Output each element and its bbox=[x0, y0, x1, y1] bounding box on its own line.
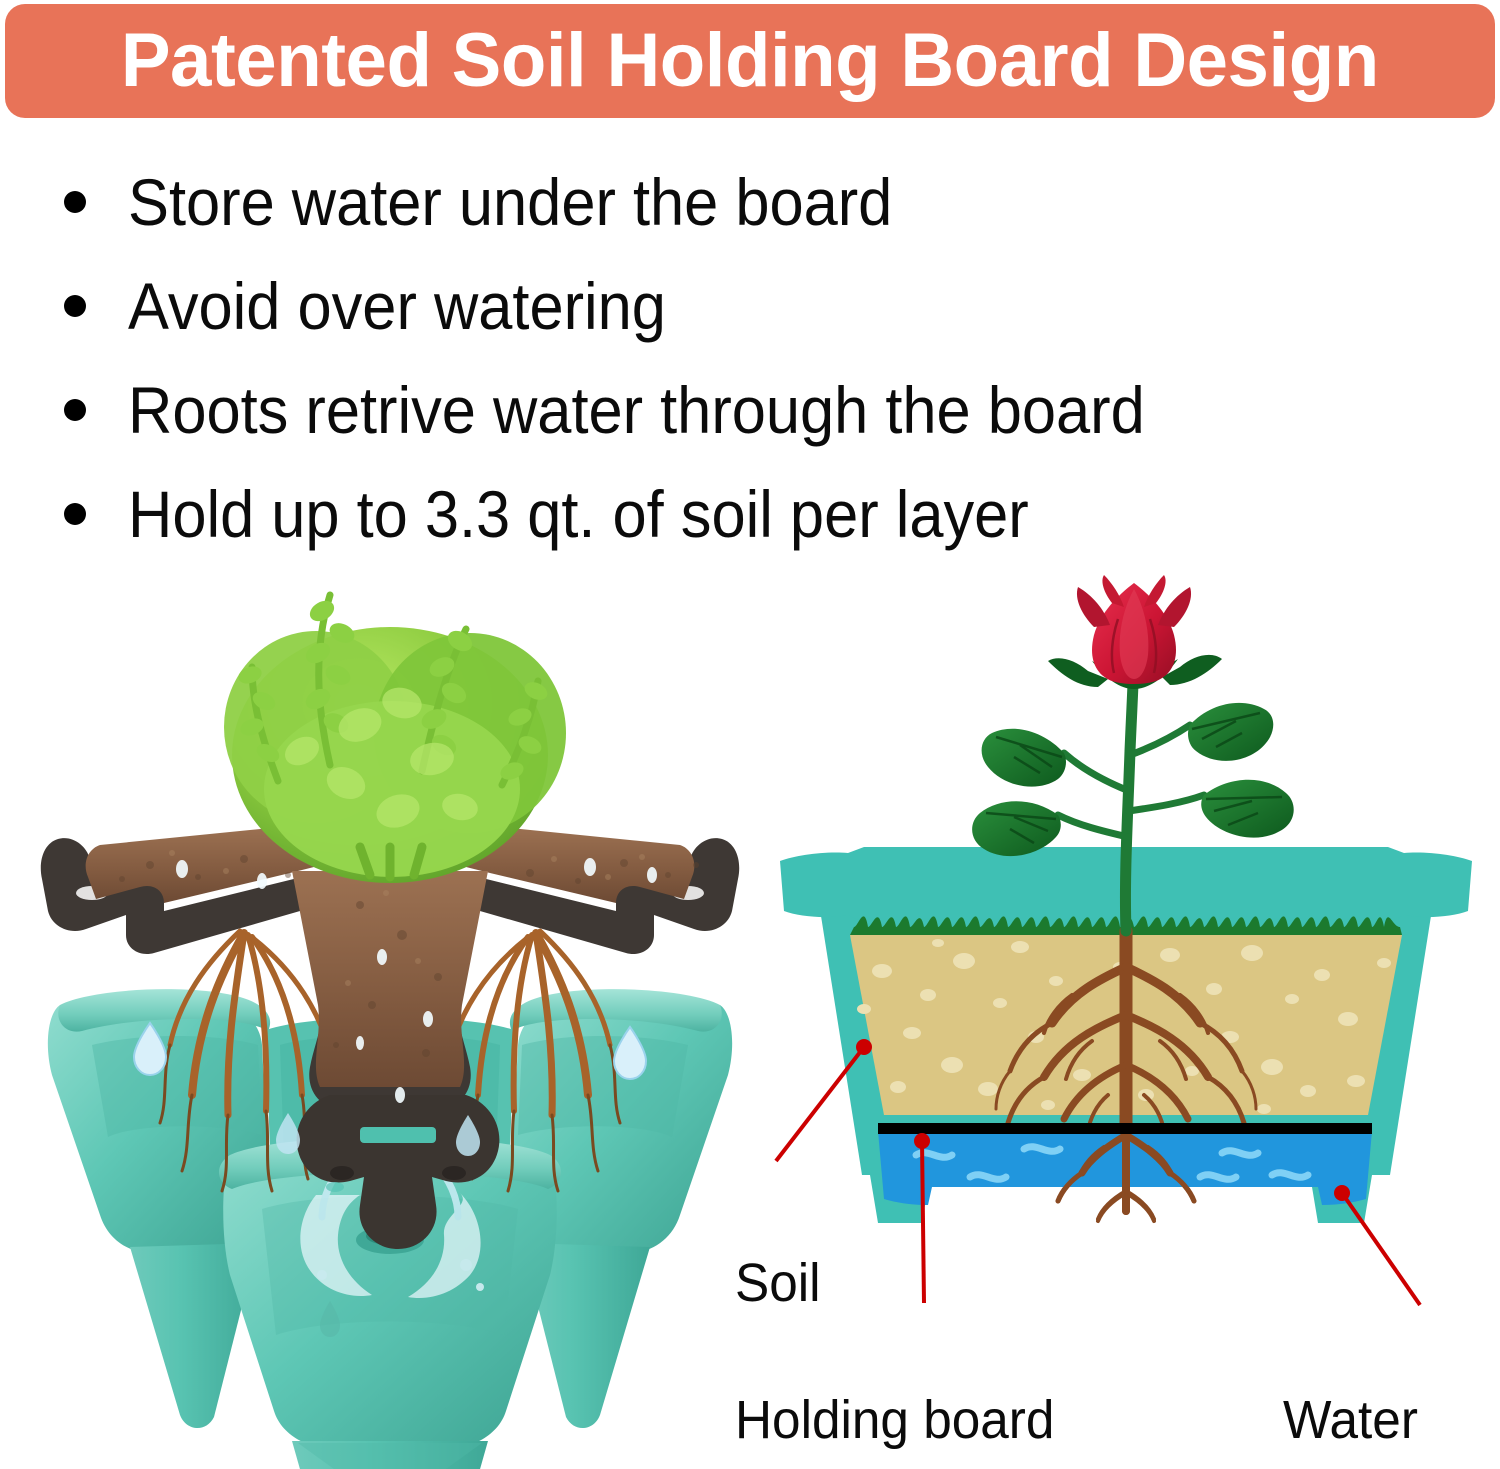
list-item-label: Roots retrive water through the board bbox=[128, 377, 1145, 443]
callout-label-water: Water bbox=[1283, 1393, 1418, 1447]
list-item: Roots retrive water through the board bbox=[0, 358, 1500, 462]
leader-dot-holding-board bbox=[914, 1133, 930, 1149]
list-item-label: Avoid over watering bbox=[128, 273, 666, 339]
list-item: Store water under the board bbox=[0, 150, 1500, 254]
leader-dot-water bbox=[1334, 1185, 1350, 1201]
feature-bullet-list: Store water under the board Avoid over w… bbox=[0, 150, 1500, 566]
bullet-dot-icon bbox=[64, 191, 86, 213]
callout-label-soil: Soil bbox=[735, 1256, 821, 1310]
leader-dot-soil bbox=[856, 1039, 872, 1055]
figure-area bbox=[0, 575, 1500, 1469]
stacking-planter-photo bbox=[30, 575, 750, 1469]
list-item: Avoid over watering bbox=[0, 254, 1500, 358]
pot-cross-section-diagram bbox=[752, 575, 1500, 1469]
leader-water bbox=[1342, 1193, 1420, 1305]
list-item-label: Store water under the board bbox=[128, 169, 892, 235]
header-banner: Patented Soil Holding Board Design bbox=[5, 4, 1495, 118]
holding-board-line bbox=[878, 1123, 1372, 1134]
bullet-dot-icon bbox=[64, 399, 86, 421]
leader-holding-board bbox=[922, 1141, 924, 1303]
page-title: Patented Soil Holding Board Design bbox=[121, 23, 1379, 99]
list-item: Hold up to 3.3 qt. of soil per layer bbox=[0, 462, 1500, 566]
board-latch bbox=[360, 1127, 436, 1143]
list-item-label: Hold up to 3.3 qt. of soil per layer bbox=[128, 481, 1029, 547]
bullet-dot-icon bbox=[64, 503, 86, 525]
bullet-dot-icon bbox=[64, 295, 86, 317]
callout-label-holding-board: Holding board bbox=[735, 1393, 1054, 1447]
rose-bud bbox=[1077, 575, 1191, 684]
